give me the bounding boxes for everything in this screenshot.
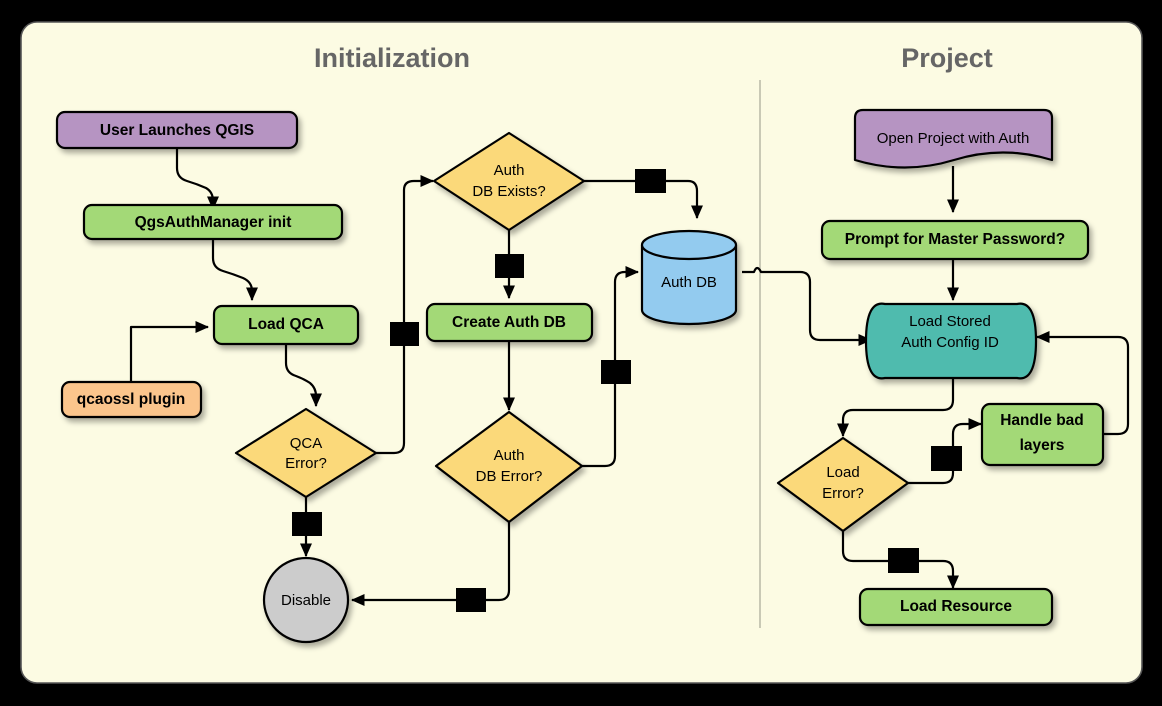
flowchart-svg: Initialization Project — [0, 0, 1162, 706]
node-auth-db-error-label-line2: DB Error? — [476, 468, 543, 485]
node-auth-db-top[interactable] — [642, 231, 736, 259]
node-load-stored-auth-config-id-label-line2: Auth Config ID — [901, 334, 999, 351]
edge-label-qca-error-yes — [292, 512, 322, 536]
node-auth-db-exists-label-line2: DB Exists? — [472, 183, 545, 200]
node-auth-db-label: Auth DB — [661, 274, 717, 291]
edge-label-auth-db-exists-no — [495, 254, 524, 278]
node-qcaossl-plugin-label: qcaossl plugin — [77, 391, 186, 408]
node-user-launches-qgis-label: User Launches QGIS — [100, 122, 254, 139]
edge-label-auth-db-error-no — [456, 588, 486, 612]
edge-label-qca-error-no — [390, 322, 419, 346]
node-load-stored-auth-config-id[interactable]: Load Stored Auth Config ID — [866, 304, 1036, 379]
node-qcaossl-plugin[interactable]: qcaossl plugin — [62, 382, 201, 417]
node-load-stored-auth-config-id-label-line1: Load Stored — [909, 313, 991, 330]
node-create-auth-db[interactable]: Create Auth DB — [427, 304, 592, 341]
node-prompt-master-password[interactable]: Prompt for Master Password? — [822, 221, 1088, 259]
node-load-qca[interactable]: Load QCA — [214, 306, 358, 344]
node-user-launches-qgis[interactable]: User Launches QGIS — [57, 112, 297, 148]
edge-label-load-error-yes — [931, 446, 962, 471]
edge-label-auth-db-error-yes — [601, 360, 631, 384]
node-disable-label: Disable — [281, 592, 331, 609]
node-load-resource[interactable]: Load Resource — [860, 589, 1052, 625]
node-load-error-label-line2: Error? — [822, 485, 864, 502]
node-disable[interactable]: Disable — [264, 558, 348, 642]
edge-label-auth-db-exists-yes — [635, 169, 666, 193]
node-prompt-master-password-label: Prompt for Master Password? — [845, 231, 1066, 248]
lane-title-project: Project — [901, 43, 993, 73]
node-handle-bad-layers-label-line1: Handle bad — [1000, 412, 1084, 429]
node-load-resource-label: Load Resource — [900, 598, 1012, 615]
node-load-error-label-line1: Load — [826, 464, 859, 481]
node-handle-bad-layers-label-line2: layers — [1020, 437, 1065, 454]
edge-label-load-error-no — [888, 548, 919, 573]
node-open-project-with-auth-label: Open Project with Auth — [877, 130, 1030, 147]
node-auth-db[interactable]: Auth DB — [642, 231, 736, 324]
node-qca-error-label-line1: QCA — [290, 435, 323, 452]
node-load-qca-label: Load QCA — [248, 316, 324, 333]
node-qgsauthmanager-init[interactable]: QgsAuthManager init — [84, 205, 342, 239]
node-handle-bad-layers[interactable]: Handle bad layers — [982, 404, 1103, 465]
lane-title-initialization: Initialization — [314, 43, 470, 73]
node-qgsauthmanager-init-label: QgsAuthManager init — [135, 214, 292, 231]
node-qca-error-label-line2: Error? — [285, 455, 327, 472]
node-auth-db-exists-label-line1: Auth — [494, 162, 525, 179]
node-auth-db-error-label-line1: Auth — [494, 447, 525, 464]
diagram-canvas: Initialization Project — [0, 0, 1162, 706]
node-create-auth-db-label: Create Auth DB — [452, 314, 566, 331]
